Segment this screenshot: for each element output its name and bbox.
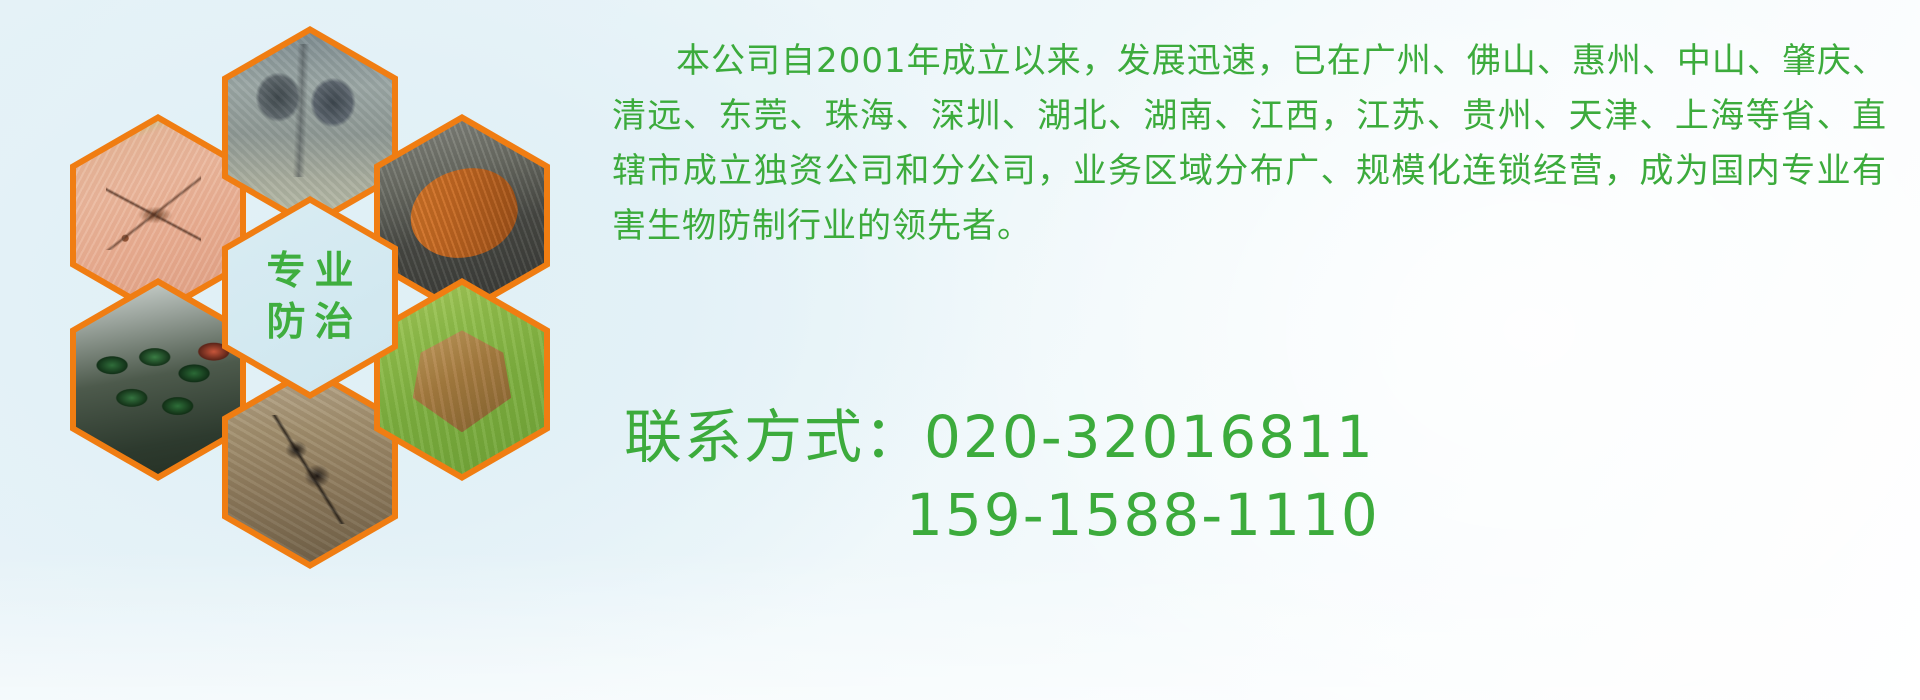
stinkbug-photo-image: [380, 285, 544, 474]
ant-photo-image: [228, 373, 392, 562]
badge-hexagon-inner: 专业 防治: [228, 203, 392, 392]
badge-hexagon: 专业 防治: [222, 196, 398, 399]
contact-mobile-line: 159-1588-1110: [618, 476, 1908, 554]
flies-photo-image: [76, 285, 240, 474]
intro-copy: 本公司自2001年成立以来，发展迅速，已在广州、佛山、惠州、中山、肇庆、清远、东…: [612, 34, 1887, 254]
stinkbug-photo: [374, 278, 550, 481]
badge-line-1: 专业: [257, 249, 362, 295]
contact-label: 联系方式：: [624, 403, 924, 471]
badge-line-2: 防治: [257, 300, 362, 346]
contact-landline-number[interactable]: 020-32016811: [924, 403, 1375, 471]
contact-mobile-number[interactable]: 159-1588-1110: [906, 481, 1380, 549]
honeycomb-collage: 专业 防治: [70, 0, 630, 600]
intro-paragraph: 本公司自2001年成立以来，发展迅速，已在广州、佛山、惠州、中山、肇庆、清远、东…: [612, 34, 1887, 254]
contact-landline-line: 联系方式：020-32016811: [618, 398, 1908, 476]
rats-photo-image: [228, 33, 392, 222]
contact-block: 联系方式：020-32016811 159-1588-1110: [618, 398, 1908, 554]
promo-banner: 专业 防治 本公司自2001年成立以来，发展迅速，已在广州、佛山、惠州、中山、肇…: [0, 0, 1920, 700]
flies-photo: [70, 278, 246, 481]
